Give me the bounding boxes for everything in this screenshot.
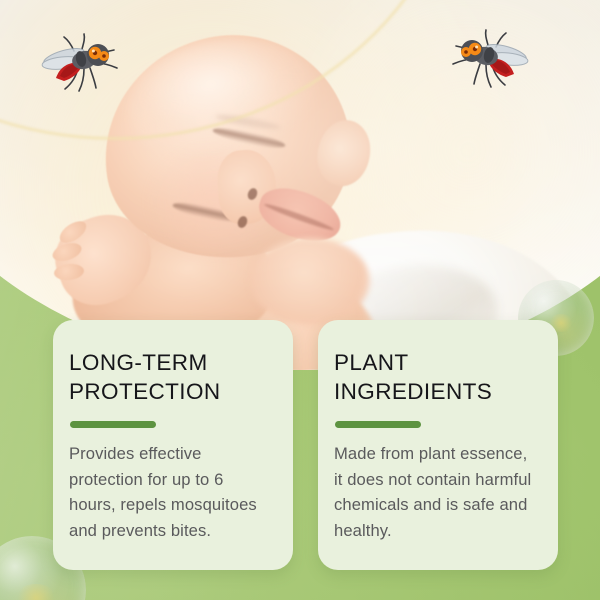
card-divider <box>335 421 421 428</box>
card-title: PLANT INGREDIENTS <box>334 348 536 406</box>
card-title: LONG-TERM PROTECTION <box>69 348 271 406</box>
mosquito-right-icon <box>448 28 532 95</box>
card-divider <box>70 421 156 428</box>
card-body: Provides effective protection for up to … <box>69 441 271 543</box>
mosquito-left-icon <box>38 32 122 99</box>
poster-root: LONG-TERM PROTECTION Provides effective … <box>0 0 600 600</box>
card-body: Made from plant essence, it does not con… <box>334 441 536 543</box>
bubble-speck <box>14 584 58 600</box>
benefit-card-long-term-protection[interactable]: LONG-TERM PROTECTION Provides effective … <box>53 320 293 570</box>
benefit-card-plant-ingredients[interactable]: PLANT INGREDIENTS Made from plant essenc… <box>318 320 558 570</box>
